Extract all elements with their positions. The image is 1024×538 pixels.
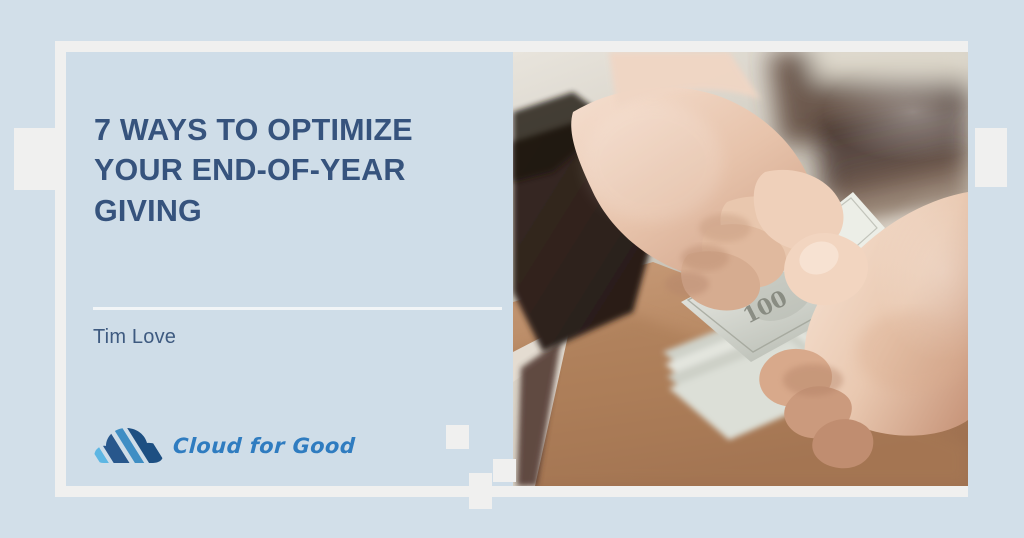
accent-square-center-c xyxy=(469,473,492,509)
accent-square-right-bottom xyxy=(975,128,1007,187)
money-exchange-illustration: 100 100 xyxy=(513,52,968,486)
text-column: 7 Ways to Optimize Your End-of-Year Givi… xyxy=(66,52,523,486)
header-photo: 100 100 xyxy=(513,52,968,486)
brand-logo[interactable]: Cloud for Good xyxy=(93,421,355,471)
accent-square-center-b xyxy=(493,459,516,482)
blog-header-card: 7 Ways to Optimize Your End-of-Year Givi… xyxy=(55,41,968,497)
title-divider xyxy=(93,307,502,310)
author-name: Tim Love xyxy=(93,326,176,349)
card-inner-panel: 7 Ways to Optimize Your End-of-Year Givi… xyxy=(66,52,957,486)
accent-square-left xyxy=(14,128,60,190)
accent-square-center-a xyxy=(446,425,469,449)
brand-name-text: Cloud for Good xyxy=(172,434,356,458)
page-title: 7 Ways to Optimize Your End-of-Year Givi… xyxy=(94,110,484,231)
cloud-logo-mark xyxy=(93,421,165,471)
